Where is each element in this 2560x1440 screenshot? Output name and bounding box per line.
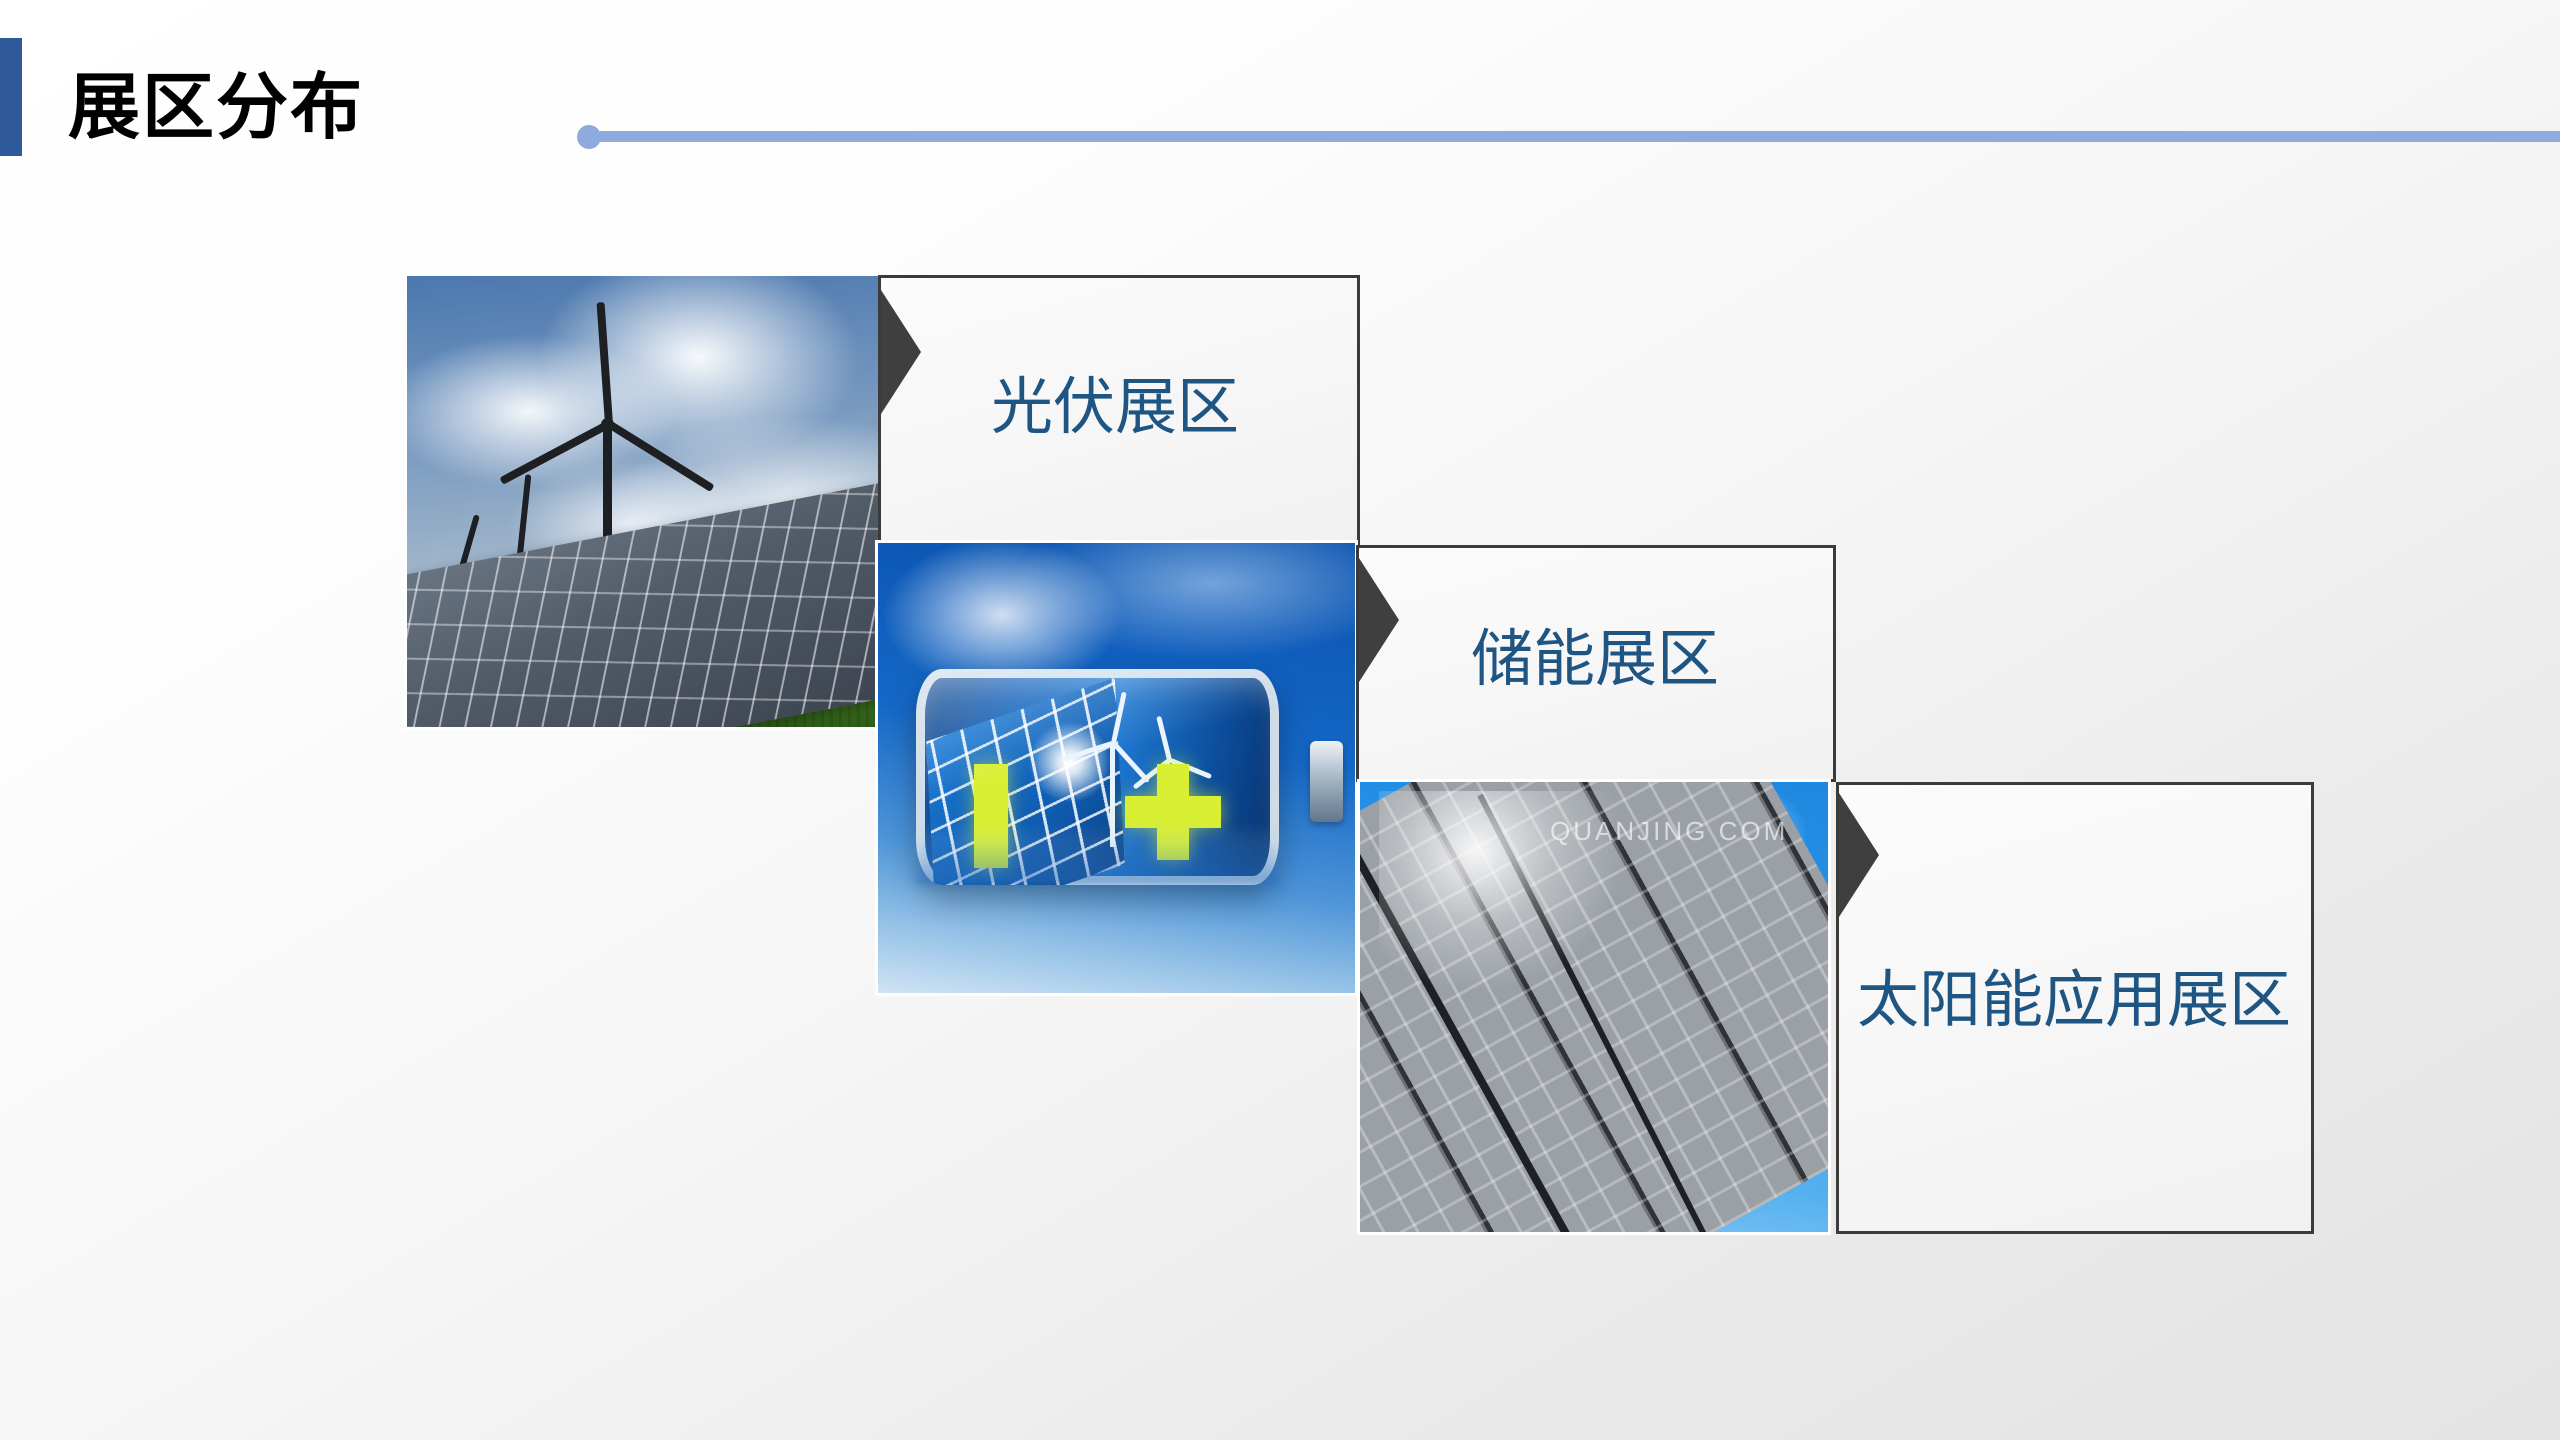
title-rule: [600, 131, 2560, 142]
zone-3-card[interactable]: 太阳能应用展区: [1836, 782, 2314, 1234]
zone-2-label: 储能展区: [1471, 626, 1719, 694]
slide-canvas: 展区分布: [0, 0, 2560, 1440]
title-rule-dot-icon: [577, 125, 601, 149]
title-accent-bar: [0, 38, 22, 156]
zone-3-label: 太阳能应用展区: [1857, 967, 2291, 1035]
zone-1-label: 光伏展区: [991, 374, 1239, 442]
image-watermark: QUANJING COM: [1550, 816, 1788, 847]
zone-3-image: QUANJING COM: [1360, 782, 1828, 1232]
zone-1-image: [407, 276, 878, 727]
battery-terminal-cap: [1310, 741, 1343, 822]
zone-1-card[interactable]: 光伏展区: [878, 275, 1360, 547]
battery-reflection: [916, 822, 1279, 885]
zone-2-image: [878, 543, 1355, 993]
chevron-right-icon: [1839, 793, 1879, 917]
chevron-right-icon: [881, 290, 921, 414]
page-title: 展区分布: [68, 72, 364, 144]
zone-2-card[interactable]: 储能展区: [1356, 545, 1836, 782]
chevron-right-icon: [1359, 558, 1399, 682]
